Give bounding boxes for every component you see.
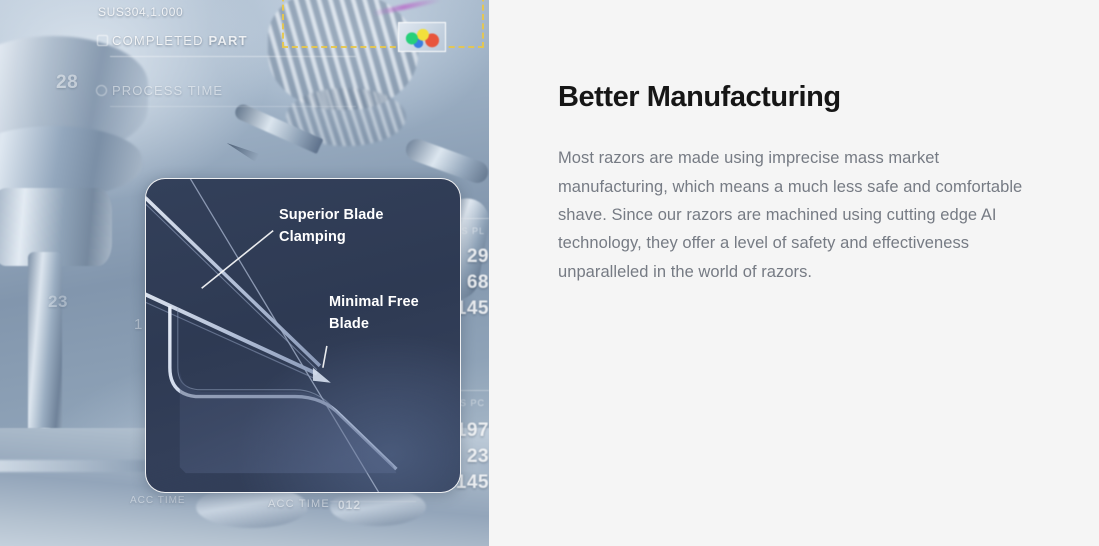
hud-material-text: SUS304,1.000 <box>98 5 183 19</box>
section-heading: Better Manufacturing <box>558 80 1099 114</box>
hud-completed-prefix: COMPLETED <box>112 33 209 48</box>
roi-dashed-annotation <box>282 0 484 48</box>
hud-gauge-23: 23 <box>48 292 68 312</box>
razor-lower-edge <box>146 288 317 373</box>
leader-line-clamping <box>202 231 274 289</box>
blade-label-minimal-free-blade: Minimal Free Blade <box>329 291 419 336</box>
hud-checkbox-icon <box>97 35 108 46</box>
text-content-panel: Better Manufacturing Most razors are mad… <box>489 0 1099 546</box>
hud-gauge-1: 1 <box>134 316 143 333</box>
manufacturing-photo-panel: SUS304,1.000 COMPLETED PART PROCESS TIME… <box>0 0 489 546</box>
blade-tip <box>313 368 331 383</box>
hud-completed-bold: PART <box>209 33 248 48</box>
cutting-tool-shank <box>28 252 62 442</box>
blade-diagram-card: Superior Blade Clamping Minimal Free Bla… <box>145 178 461 493</box>
blade-label-superior-clamping: Superior Blade Clamping <box>279 204 384 249</box>
hud-process-time-text: PROCESS TIME <box>112 83 223 98</box>
hud-completed-part-text: COMPLETED PART <box>112 33 248 48</box>
hud-acc-time-value: 012 <box>338 498 361 512</box>
hud-divider-2 <box>110 106 356 107</box>
hud-acc-time-left-label: ACC TIME <box>130 495 186 506</box>
hud-gauge-28: 28 <box>56 72 78 94</box>
hud-acc-time-label: ACC TIME <box>268 498 330 510</box>
hud-divider-1 <box>110 56 356 57</box>
leader-line-free-blade <box>323 346 327 368</box>
feature-section: SUS304,1.000 COMPLETED PART PROCESS TIME… <box>0 0 1099 546</box>
heatmap-thumbnail-icon <box>398 22 446 52</box>
hud-clock-icon <box>96 85 107 96</box>
section-paragraph: Most razors are made using imprecise mas… <box>558 144 1053 286</box>
